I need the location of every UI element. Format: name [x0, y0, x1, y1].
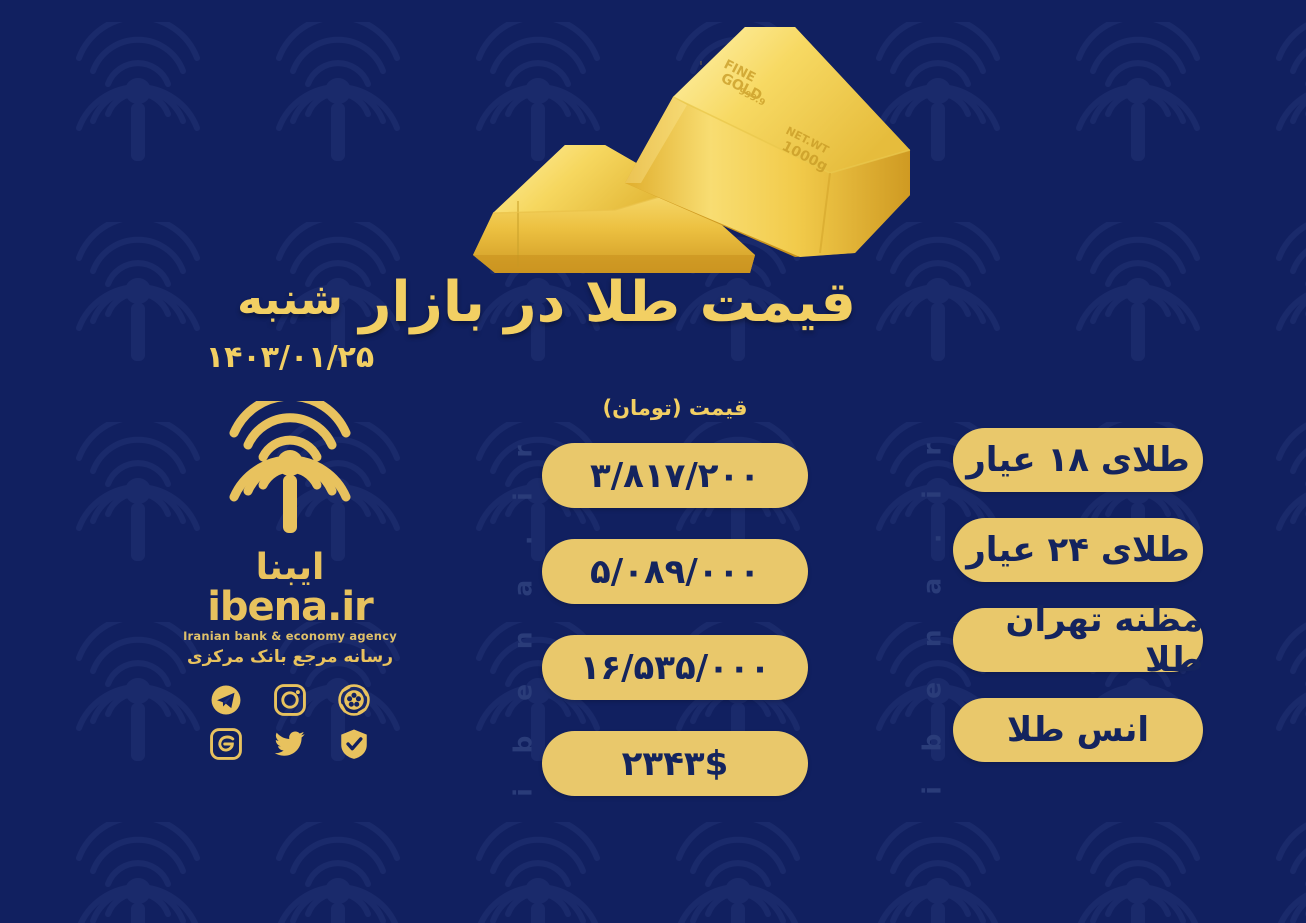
bale-icon[interactable]: [337, 727, 371, 761]
aparat-icon[interactable]: [337, 683, 371, 717]
social-links: [150, 683, 430, 761]
logo-name-fa: ایبنا: [150, 547, 430, 588]
ibena-logo: ایبنا ibena.ir Iranian bank & economy ag…: [150, 401, 430, 667]
logo-tagline-en: Iranian bank & economy agency: [150, 629, 430, 643]
day-name: شنبه: [150, 278, 430, 322]
ibena-tower-icon: [219, 401, 361, 543]
logo-tagline-fa: رسانه مرجع بانک مرکزی: [150, 647, 430, 667]
social-row-bottom: [150, 727, 430, 761]
price-value-pill[interactable]: ۱۶/۵۳۵/۰۰۰: [542, 635, 808, 700]
branding-column: شنبه ۱۴۰۳/۰۱/۲۵ ایبنا ibena.ir Iranian b…: [150, 278, 430, 771]
twitter-icon[interactable]: [273, 727, 307, 761]
price-label-pill[interactable]: طلای ۱۸ عیار: [953, 428, 1203, 492]
price-column-header: قیمت (تومان): [542, 396, 808, 420]
gold-bars-illustration: FINE GOLD 999.9 NET.WT 1000g: [455, 5, 925, 295]
price-label-pill[interactable]: طلای ۲۴ عیار: [953, 518, 1203, 582]
price-value-column: ۳/۸۱۷/۲۰۰ ۵/۰۸۹/۰۰۰ ۱۶/۵۳۵/۰۰۰ ۲۳۴۳$: [542, 443, 808, 827]
telegram-icon[interactable]: [209, 683, 243, 717]
price-label-column: طلای ۱۸ عیار طلای ۲۴ عیار مظنه تهران طلا…: [953, 428, 1203, 788]
page-title: قیمت طلا در بازار: [436, 274, 856, 333]
logo-name-en: ibena.ir: [150, 588, 430, 626]
social-row-top: [150, 683, 430, 717]
watermark-left: i b e n a . i r: [509, 425, 538, 805]
price-value-pill[interactable]: ۳/۸۱۷/۲۰۰: [542, 443, 808, 508]
date-text: ۱۴۰۳/۰۱/۲۵: [150, 340, 430, 375]
price-value-pill[interactable]: ۲۳۴۳$: [542, 731, 808, 796]
price-label-pill[interactable]: انس طلا: [953, 698, 1203, 762]
gold-price-poster: FINE GOLD 999.9 NET.WT 1000g قیمت طلا در…: [0, 0, 1306, 923]
watermark-right: i b e n a . i r: [918, 423, 947, 803]
price-label-pill[interactable]: مظنه تهران طلا: [953, 608, 1203, 672]
instagram-icon[interactable]: [273, 683, 307, 717]
price-value-pill[interactable]: ۵/۰۸۹/۰۰۰: [542, 539, 808, 604]
eitaa-icon[interactable]: [209, 727, 243, 761]
